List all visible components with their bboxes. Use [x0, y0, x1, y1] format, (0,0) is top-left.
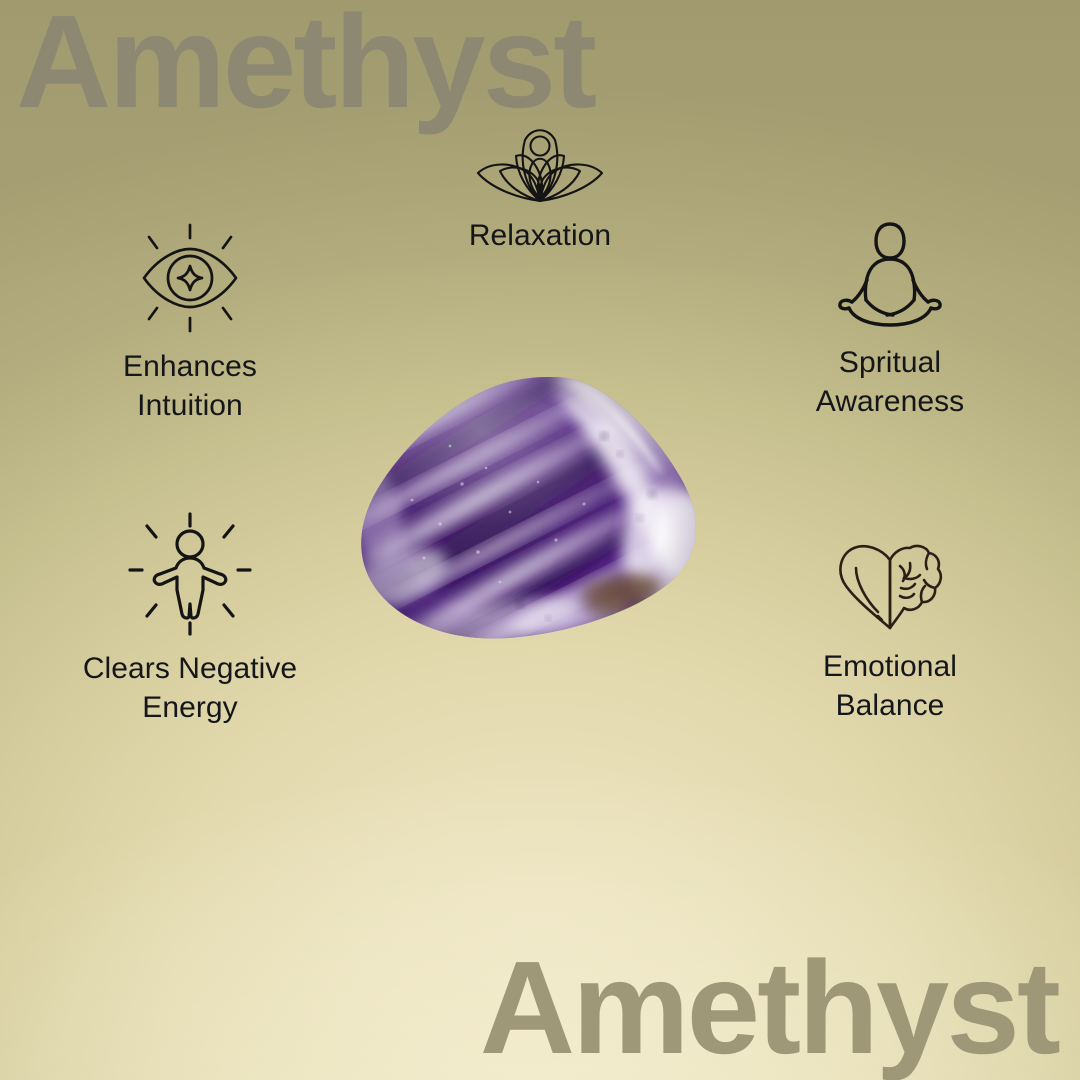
lotus-meditation-icon	[465, 118, 615, 208]
title-top: Amethyst	[16, 0, 594, 128]
radiant-person-icon	[126, 512, 254, 636]
heart-brain-icon	[832, 530, 948, 634]
benefit-emotional: Emotional Balance	[740, 530, 1040, 725]
benefit-intuition: Enhances Intuition	[40, 222, 340, 425]
radiant-eye-icon	[126, 222, 254, 334]
benefit-label-intuition: Enhances Intuition	[123, 347, 257, 425]
meditating-figure-icon	[830, 218, 950, 330]
benefit-label-clears: Clears Negative Energy	[83, 649, 297, 727]
amethyst-stone-image	[352, 372, 710, 662]
benefit-label-emotional: Emotional Balance	[823, 647, 957, 725]
benefit-label-spiritual: Spritual Awareness	[816, 343, 964, 421]
title-bottom: Amethyst	[480, 942, 1058, 1074]
benefit-clears: Clears Negative Energy	[40, 512, 340, 727]
benefit-spiritual: Spritual Awareness	[740, 218, 1040, 421]
poster-canvas: Amethyst	[0, 0, 1080, 1080]
benefit-label-relaxation: Relaxation	[469, 216, 611, 255]
benefit-relaxation: Relaxation	[390, 118, 690, 255]
